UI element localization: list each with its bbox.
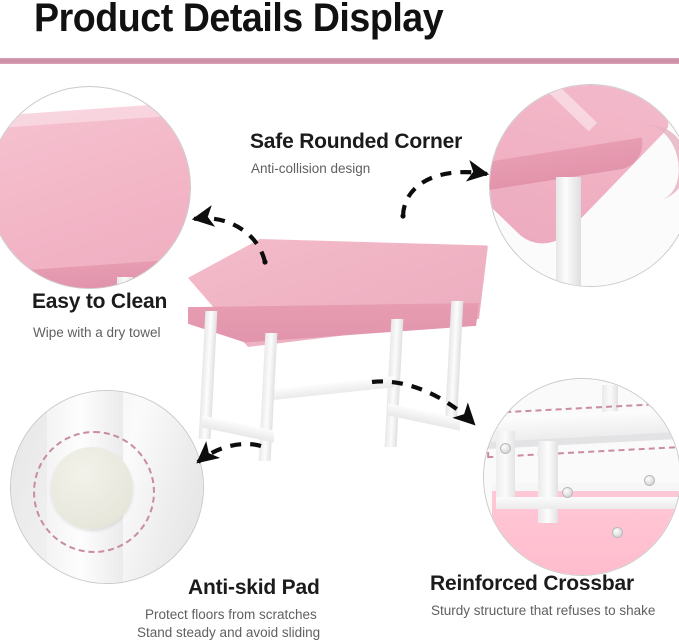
callout-headline-anti-skid-pad: Anti-skid Pad bbox=[188, 576, 320, 600]
callout-subline-anti-skid-pad-2: Stand steady and avoid sliding bbox=[137, 625, 320, 640]
desk-tabletop-edge bbox=[188, 303, 488, 355]
corner-leg-detail bbox=[556, 177, 581, 287]
callout-circle-reinforced-crossbar bbox=[483, 378, 679, 576]
product-image-desk bbox=[180, 215, 500, 455]
product-infographic: Product Details Display Easy to Clean Wi… bbox=[0, 0, 679, 641]
callout-subline-anti-skid-pad-1: Protect floors from scratches bbox=[145, 607, 317, 622]
callout-circle-safe-rounded-corner bbox=[489, 84, 679, 287]
dashed-highlight-ring bbox=[33, 431, 155, 553]
screw-icon bbox=[500, 443, 511, 454]
screw-icon bbox=[644, 475, 655, 486]
arrow-safe-rounded-corner bbox=[400, 172, 487, 218]
callout-subline-reinforced-crossbar: Sturdy structure that refuses to shake bbox=[431, 603, 655, 618]
page-title: Product Details Display bbox=[34, 0, 443, 41]
desk-leg-detail bbox=[117, 277, 133, 289]
callout-headline-safe-rounded-corner: Safe Rounded Corner bbox=[250, 130, 462, 154]
callout-circle-anti-skid-pad bbox=[10, 390, 204, 584]
screw-icon bbox=[612, 527, 623, 538]
callout-subline-safe-rounded-corner: Anti-collision design bbox=[251, 161, 370, 176]
header-divider bbox=[0, 58, 679, 64]
frame-leg-right-detail bbox=[538, 441, 558, 523]
callout-headline-reinforced-crossbar: Reinforced Crossbar bbox=[430, 572, 634, 596]
screw-icon bbox=[562, 487, 573, 498]
callout-circle-easy-to-clean bbox=[0, 86, 191, 289]
desk-crossbar bbox=[266, 376, 394, 400]
frame-rail-detail bbox=[496, 497, 679, 509]
callout-subline-easy-to-clean: Wipe with a dry towel bbox=[33, 325, 161, 340]
callout-headline-easy-to-clean: Easy to Clean bbox=[32, 290, 167, 314]
